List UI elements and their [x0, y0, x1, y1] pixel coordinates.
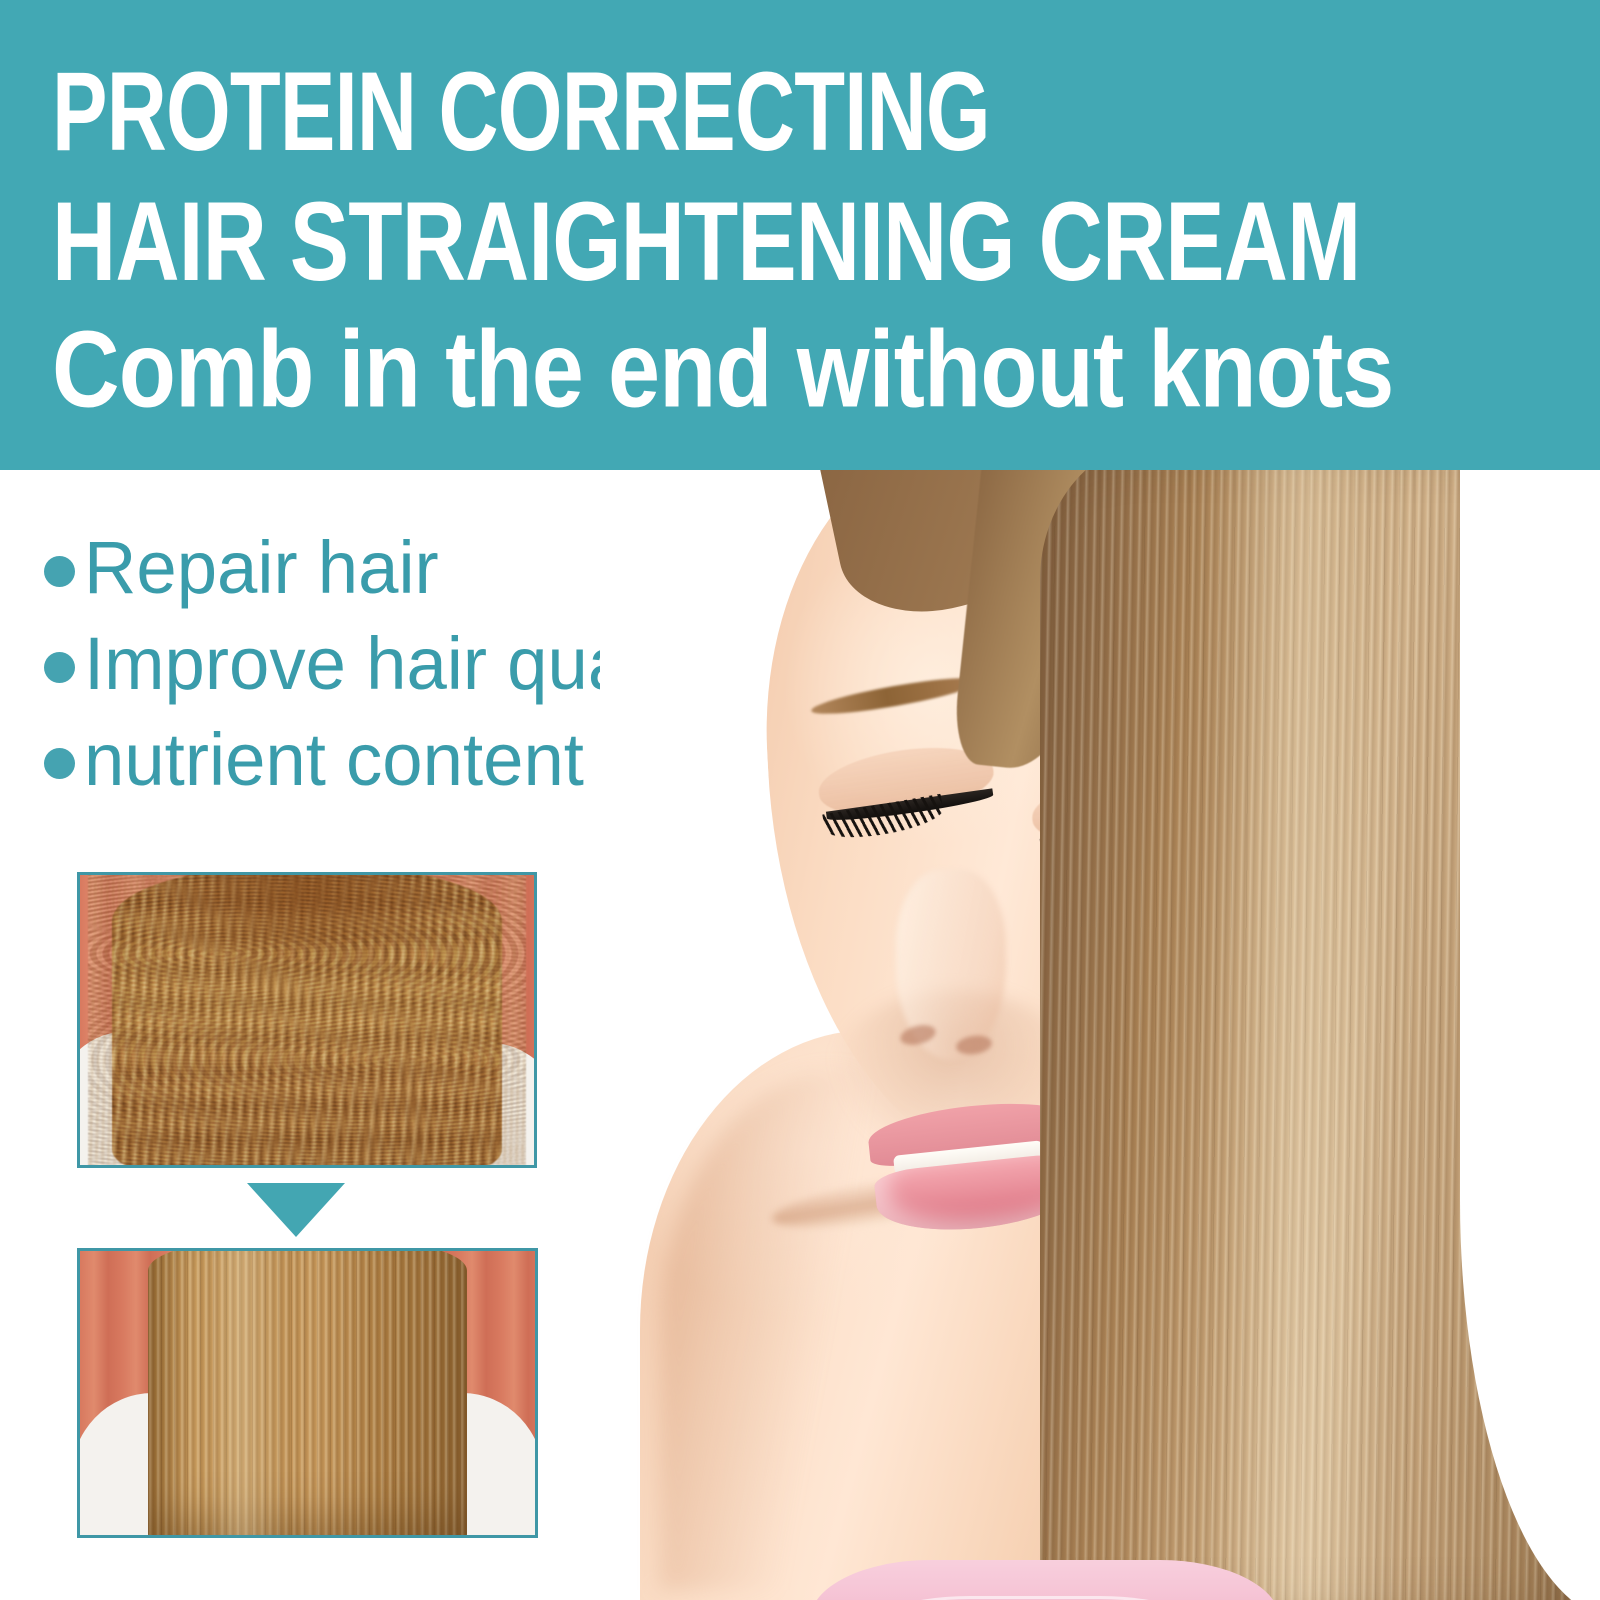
benefit-label-1: Repair hair — [84, 531, 439, 605]
bullet-dot-icon — [44, 652, 75, 683]
headline-line-1: PROTEIN CORRECTING — [52, 56, 990, 168]
bullet-dot-icon — [44, 556, 75, 587]
headline-line-2: HAIR STRAIGHTENING CREAM — [52, 186, 1360, 298]
model-photo — [600, 470, 1600, 1600]
after-photo — [77, 1248, 538, 1538]
transition-arrow-down-icon — [247, 1183, 345, 1237]
bullet-dot-icon — [44, 748, 75, 779]
before-photo — [77, 872, 537, 1168]
header-banner: PROTEIN CORRECTING HAIR STRAIGHTENING CR… — [0, 0, 1600, 470]
advertisement-canvas: PROTEIN CORRECTING HAIR STRAIGHTENING CR… — [0, 0, 1600, 1600]
model-pink-top — [810, 1560, 1280, 1600]
headline-line-3: Comb in the end without knots — [52, 316, 1393, 424]
after-hair-texture — [148, 1248, 467, 1538]
benefit-label-3: nutrient content — [84, 723, 584, 797]
before-frizz-halo — [89, 872, 525, 1165]
